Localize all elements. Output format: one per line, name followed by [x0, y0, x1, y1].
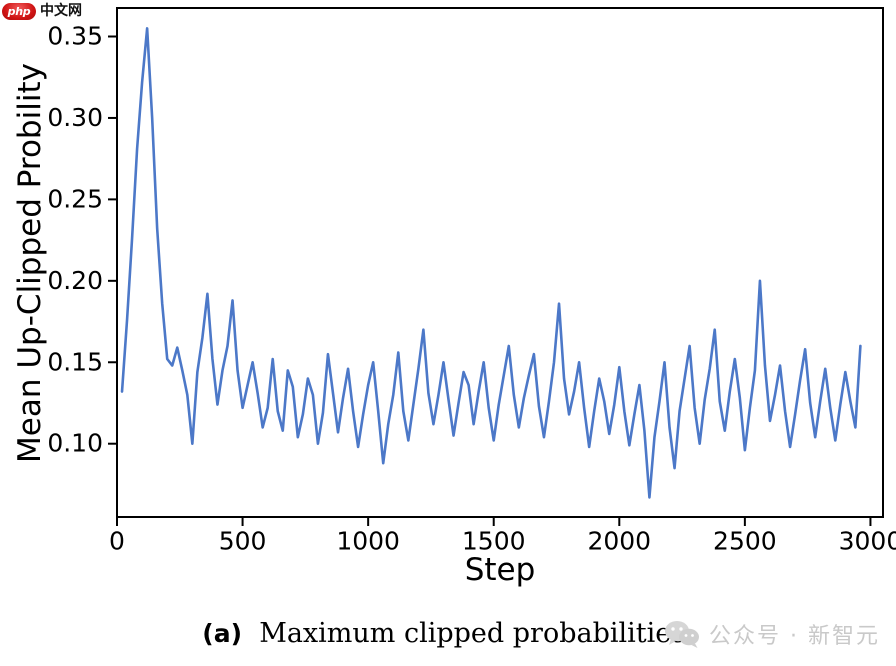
- figure-panel: php 中文网 0.100.150.200.250.300.35 0500100…: [0, 0, 896, 666]
- figure-caption-tag: (a): [202, 619, 242, 648]
- x-axis-title: Step: [465, 552, 536, 588]
- x-tick-label: 0: [109, 526, 125, 555]
- x-tick-label: 2000: [587, 526, 651, 555]
- x-tick-label: 1000: [336, 526, 400, 555]
- figure-caption-text: Maximum clipped probabilities.: [259, 618, 694, 649]
- y-tick-label: 0.20: [47, 266, 103, 295]
- x-tick-label: 3000: [839, 526, 896, 555]
- y-tick-label: 0.15: [47, 347, 103, 376]
- y-axis-title: Mean Up-Clipped Probility: [12, 63, 48, 463]
- figure-caption: (a) Maximum clipped probabilities.: [0, 618, 896, 649]
- y-tick-label: 0.10: [47, 429, 103, 458]
- y-tick-label: 0.25: [47, 184, 103, 213]
- php-logo-badge: php: [2, 3, 36, 20]
- plot-frame: [117, 8, 883, 517]
- x-tick-label: 2500: [713, 526, 777, 555]
- y-axis-ticks: 0.100.150.200.250.300.35: [47, 22, 117, 458]
- x-axis-ticks: 050010001500200025003000: [109, 517, 896, 555]
- y-tick-label: 0.30: [47, 103, 103, 132]
- y-tick-label: 0.35: [47, 22, 103, 51]
- php-logo-text: 中文网: [40, 3, 82, 20]
- x-tick-label: 500: [219, 526, 267, 555]
- figure-caption-spacer: [242, 618, 259, 649]
- line-chart: 0.100.150.200.250.300.35 050010001500200…: [0, 0, 896, 666]
- php-chinese-net-watermark: php 中文网: [2, 1, 82, 21]
